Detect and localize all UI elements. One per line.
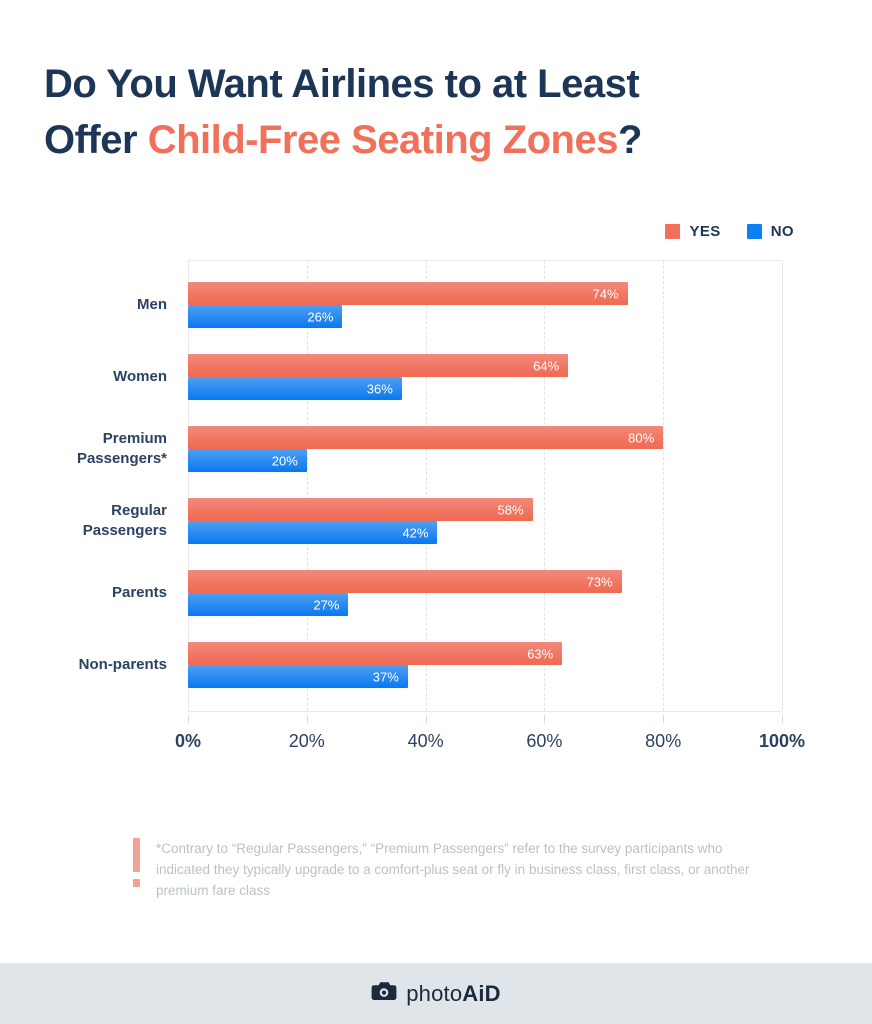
row-label-women: Women — [0, 367, 167, 387]
logo-text-light: photo — [406, 981, 462, 1006]
footnote-text: *Contrary to “Regular Passengers,” “Prem… — [156, 838, 753, 901]
axis-tick — [188, 715, 189, 723]
row-label-premium-passengers: PremiumPassengers* — [0, 429, 167, 469]
bar-value-label: 80% — [628, 430, 654, 445]
footer-bar: photoAiD — [0, 963, 872, 1024]
row-label-men: Men — [0, 295, 167, 315]
logo-text: photoAiD — [406, 981, 501, 1007]
chart-row: Men74%26% — [0, 282, 872, 328]
bar-no[interactable]: 27% — [188, 593, 348, 616]
bar-yes[interactable]: 58% — [188, 498, 533, 521]
bar-yes[interactable]: 74% — [188, 282, 628, 305]
x-axis: 0%20%40%60%80%100% — [188, 715, 782, 760]
exclamation-icon — [133, 838, 140, 890]
chart-legend: YES NO — [665, 223, 794, 240]
bar-group: 80%20% — [188, 426, 782, 472]
legend-label-no: NO — [771, 223, 794, 240]
bar-chart: Men74%26%Women64%36%PremiumPassengers*80… — [0, 260, 872, 715]
bar-no[interactable]: 20% — [188, 449, 307, 472]
axis-tick — [663, 715, 664, 723]
bar-no[interactable]: 42% — [188, 521, 437, 544]
bar-value-label: 37% — [373, 669, 399, 684]
bar-value-label: 20% — [272, 453, 298, 468]
bar-yes[interactable]: 80% — [188, 426, 663, 449]
axis-tick-label: 80% — [645, 731, 681, 752]
row-label-regular-passengers: RegularPassengers — [0, 501, 167, 541]
chart-row: Parents73%27% — [0, 570, 872, 616]
camera-icon — [371, 980, 397, 1007]
title-accent: Child-Free Seating Zones — [148, 118, 618, 162]
bar-group: 74%26% — [188, 282, 782, 328]
bar-yes[interactable]: 63% — [188, 642, 562, 665]
title-line-1: Do You Want Airlines to at Least — [44, 56, 844, 112]
axis-tick-label: 20% — [289, 731, 325, 752]
bar-no[interactable]: 36% — [188, 377, 402, 400]
legend-item-yes[interactable]: YES — [665, 223, 720, 240]
bar-value-label: 36% — [367, 381, 393, 396]
legend-label-yes: YES — [689, 223, 720, 240]
bar-value-label: 26% — [307, 309, 333, 324]
bar-group: 63%37% — [188, 642, 782, 688]
footnote: *Contrary to “Regular Passengers,” “Prem… — [133, 838, 753, 901]
bar-yes[interactable]: 64% — [188, 354, 568, 377]
bar-group: 58%42% — [188, 498, 782, 544]
yes-swatch-icon — [665, 224, 680, 239]
bar-no[interactable]: 37% — [188, 665, 408, 688]
bar-value-label: 73% — [587, 574, 613, 589]
bar-group: 73%27% — [188, 570, 782, 616]
chart-rows: Men74%26%Women64%36%PremiumPassengers*80… — [0, 260, 872, 712]
logo-text-bold: AiD — [462, 981, 501, 1006]
chart-row: RegularPassengers58%42% — [0, 498, 872, 544]
axis-tick-label: 0% — [175, 731, 201, 752]
bar-value-label: 42% — [402, 525, 428, 540]
bar-no[interactable]: 26% — [188, 305, 342, 328]
chart-row: Non-parents63%37% — [0, 642, 872, 688]
bar-value-label: 64% — [533, 358, 559, 373]
chart-row: PremiumPassengers*80%20% — [0, 426, 872, 472]
axis-tick — [307, 715, 308, 723]
chart-row: Women64%36% — [0, 354, 872, 400]
title-suffix: ? — [618, 118, 642, 162]
page-title: Do You Want Airlines to at Least Offer C… — [44, 56, 844, 168]
axis-tick-label: 60% — [526, 731, 562, 752]
bar-yes[interactable]: 73% — [188, 570, 622, 593]
axis-tick-label: 40% — [408, 731, 444, 752]
title-line-2: Offer Child-Free Seating Zones? — [44, 112, 844, 168]
row-label-parents: Parents — [0, 583, 167, 603]
bar-value-label: 63% — [527, 646, 553, 661]
axis-tick-label: 100% — [759, 731, 805, 752]
axis-tick — [426, 715, 427, 723]
bar-group: 64%36% — [188, 354, 782, 400]
axis-tick — [782, 715, 783, 723]
no-swatch-icon — [747, 224, 762, 239]
bar-value-label: 74% — [593, 286, 619, 301]
bar-value-label: 58% — [497, 502, 523, 517]
legend-item-no[interactable]: NO — [747, 223, 794, 240]
axis-tick — [544, 715, 545, 723]
title-prefix: Offer — [44, 118, 148, 162]
bar-value-label: 27% — [313, 597, 339, 612]
row-label-non-parents: Non-parents — [0, 655, 167, 675]
